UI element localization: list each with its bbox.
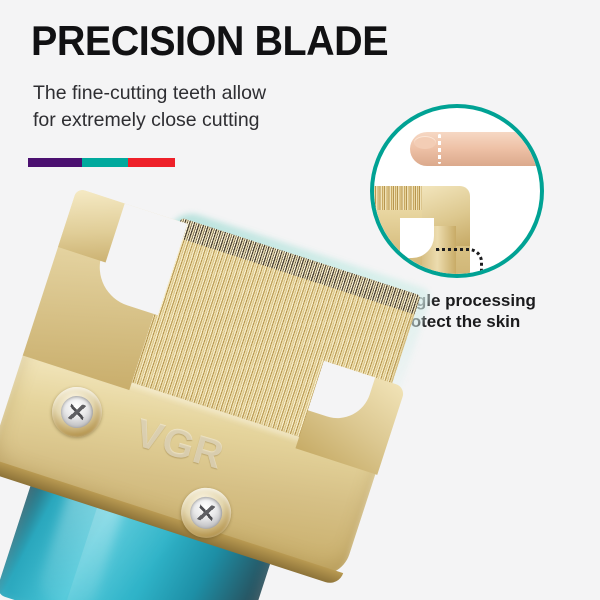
screw-head-slot	[196, 502, 217, 524]
inset-clip	[374, 108, 540, 274]
accent-rule-segment-teal	[82, 158, 128, 167]
fingertip-illustration	[410, 132, 540, 166]
fingernail-line	[438, 134, 441, 164]
page-subtitle: The fine-cutting teeth allow for extreme…	[33, 80, 266, 134]
screw-head-slot	[67, 401, 88, 423]
accent-rule-segment-red	[128, 158, 175, 167]
inset-blade-illustration	[374, 186, 490, 274]
product-feature-banner: PRECISION BLADE The fine-cutting teeth a…	[0, 0, 600, 600]
accent-rule	[28, 158, 175, 167]
detail-inset-circle	[370, 104, 544, 278]
accent-rule-segment-purple	[28, 158, 82, 167]
r-angle-dotted-bracket-icon	[436, 248, 483, 274]
page-title: PRECISION BLADE	[31, 17, 388, 65]
